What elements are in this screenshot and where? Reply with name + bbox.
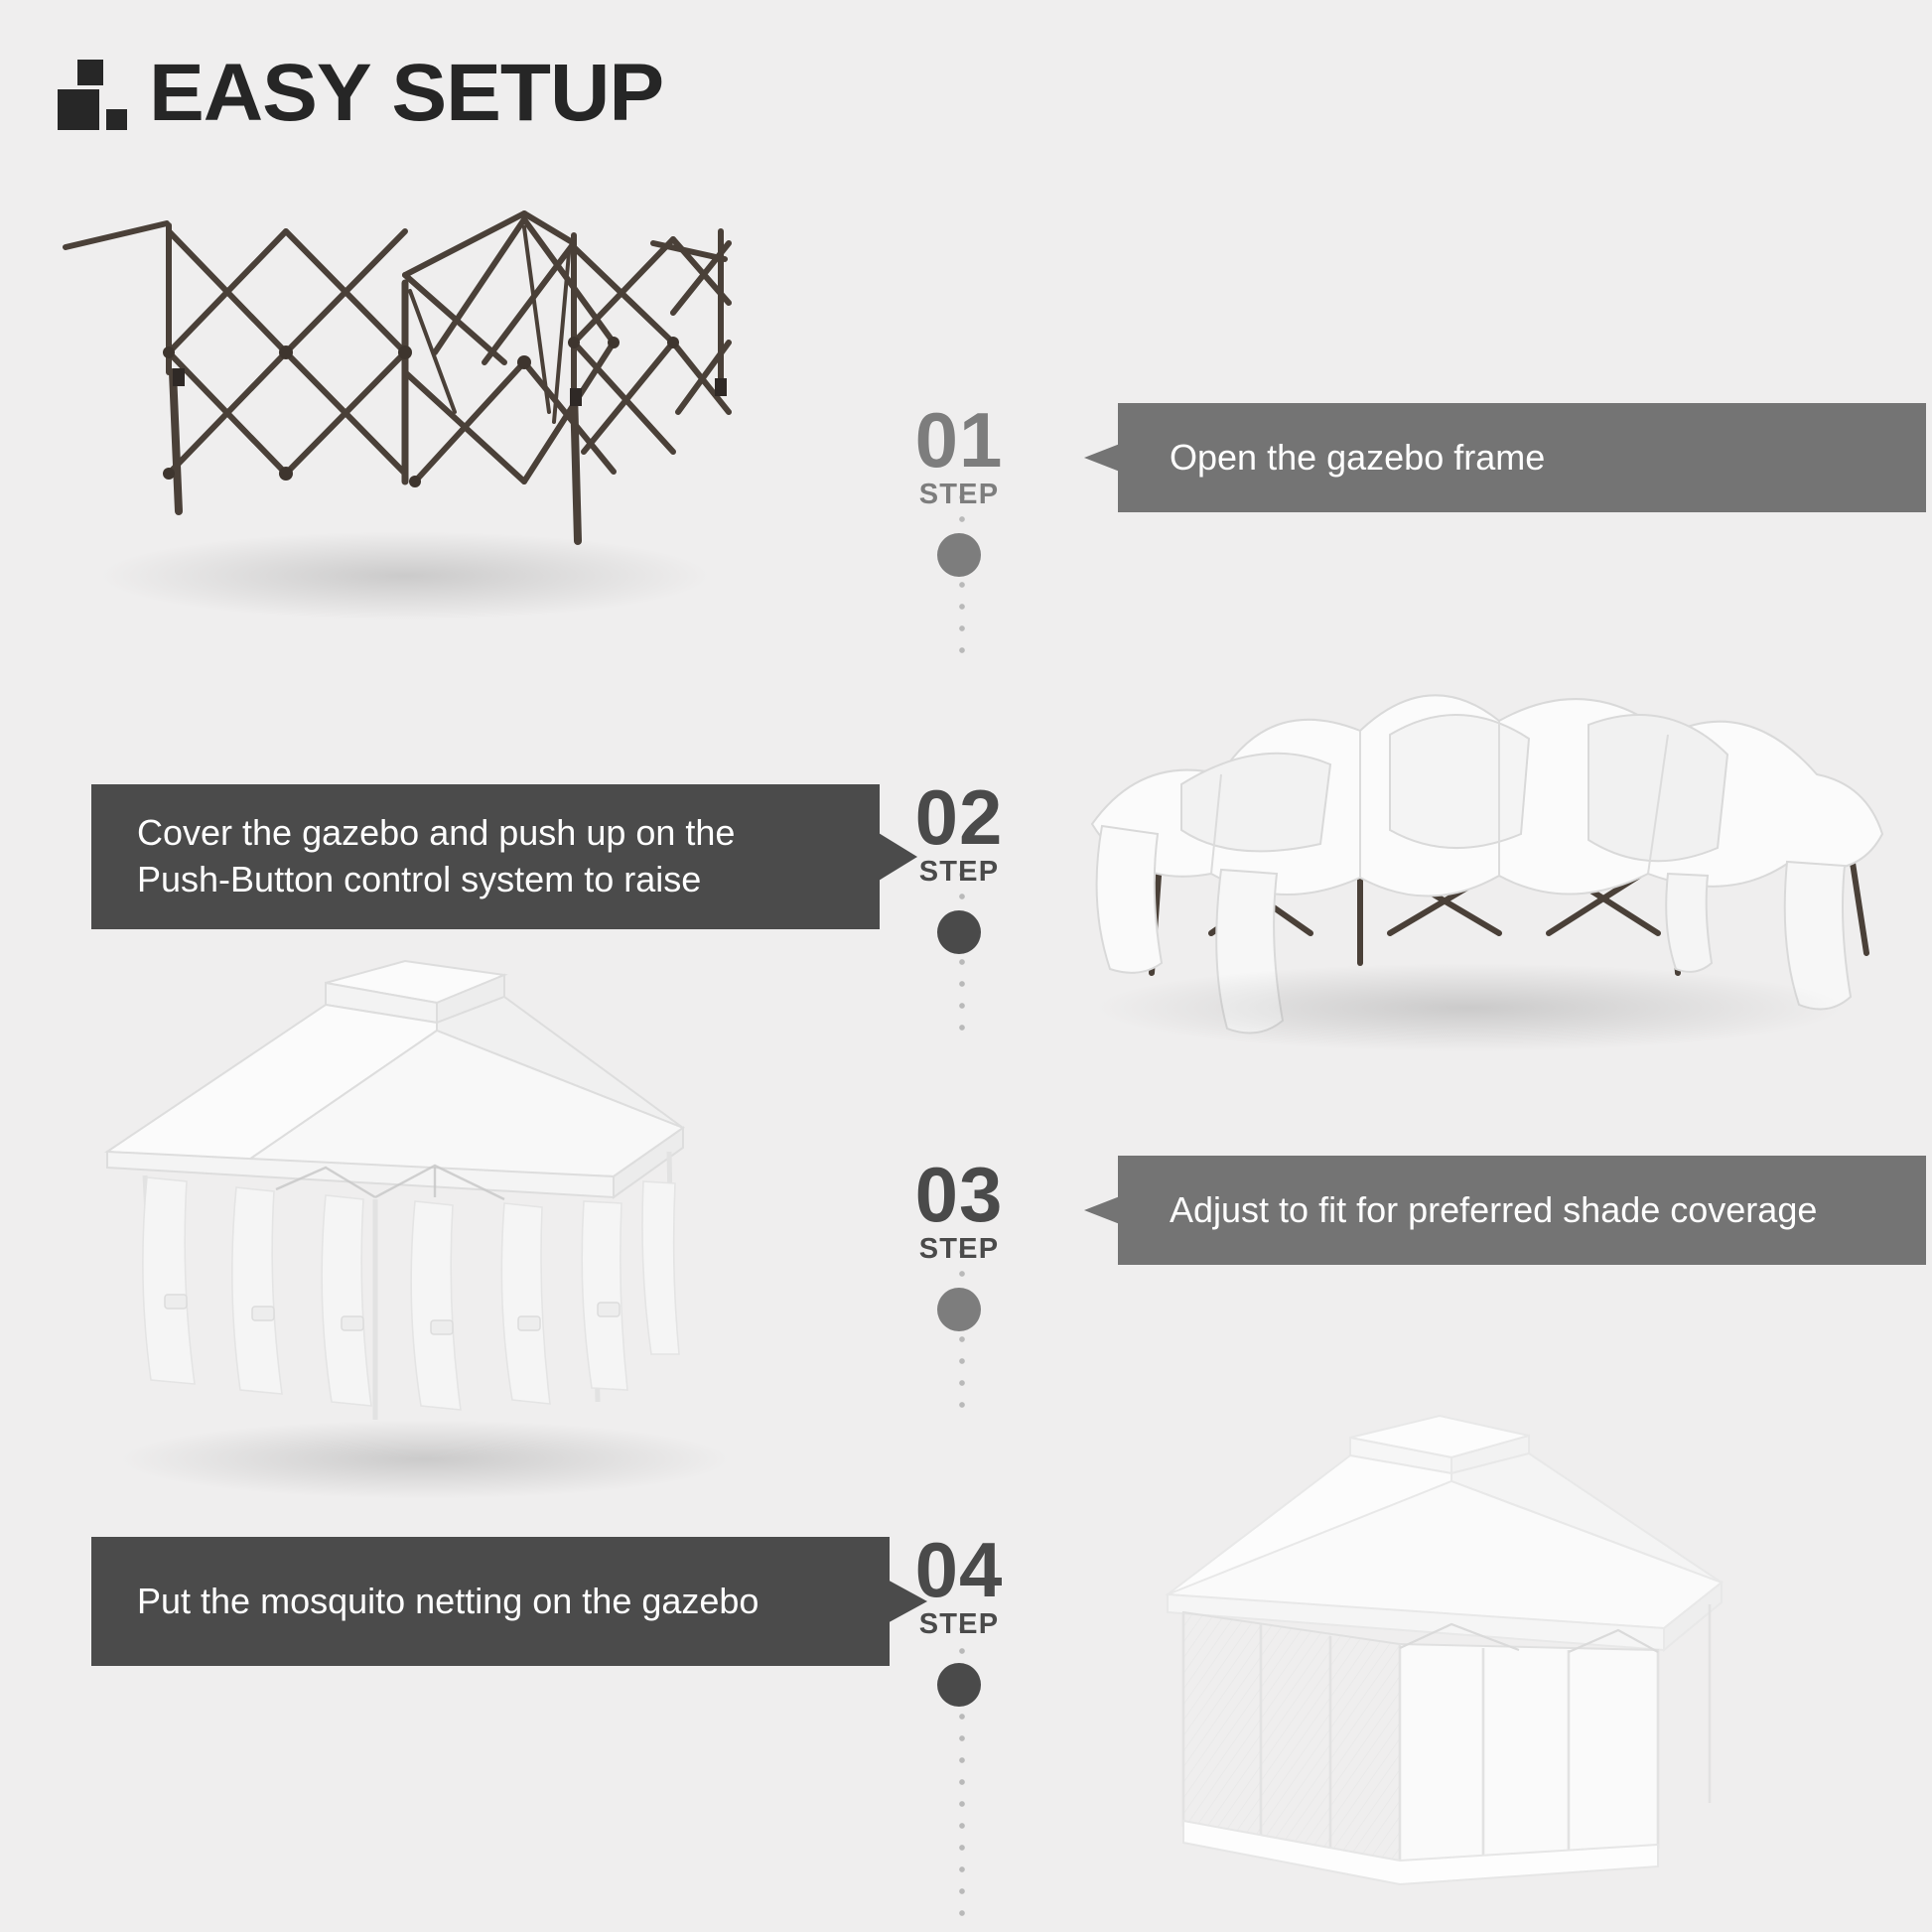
step-callout-3[interactable]: Adjust to fit for preferred shade covera… [1084,1156,1926,1265]
step-number-4: 04 [830,1535,1088,1606]
step-block-4: 04 STEP [830,1535,1088,1707]
step-callout-2-text: Cover the gazebo and push up on the Push… [137,810,735,903]
step-callout-1-text: Open the gazebo frame [1170,435,1545,482]
step-callout-4[interactable]: Put the mosquito netting on the gazebo [91,1537,927,1666]
step-callout-4-text: Put the mosquito netting on the gazebo [137,1579,759,1625]
step-dot-4 [937,1663,981,1707]
three-squares-logo-icon [58,52,123,129]
step-number-1: 01 [830,405,1088,477]
step-dot-2 [937,910,981,954]
gazebo-canopy-draped-photo [1033,635,1896,1052]
page-title: EASY SETUP [58,52,653,129]
gazebo-raised-with-curtains-photo [77,953,772,1509]
step-block-3: 03 STEP [830,1160,1088,1331]
step-dot-3 [937,1288,981,1331]
step-word-3: STEP [830,1233,1088,1266]
page-title-text: EASY SETUP [149,59,663,129]
step-callout-2[interactable]: Cover the gazebo and push up on the Push… [91,784,917,929]
gazebo-with-mosquito-netting-photo [1102,1400,1787,1926]
gazebo-frame-open-photo [58,184,733,601]
step-dot-1 [937,533,981,577]
step-callout-1[interactable]: Open the gazebo frame [1084,403,1926,512]
infographic-canvas: EASY SETUP [0,0,1932,1932]
step-number-3: 03 [830,1160,1088,1231]
step-word-4: STEP [830,1608,1088,1641]
step-callout-3-text: Adjust to fit for preferred shade covera… [1170,1187,1817,1234]
step-block-1: 01 STEP [830,405,1088,577]
step-word-1: STEP [830,479,1088,511]
